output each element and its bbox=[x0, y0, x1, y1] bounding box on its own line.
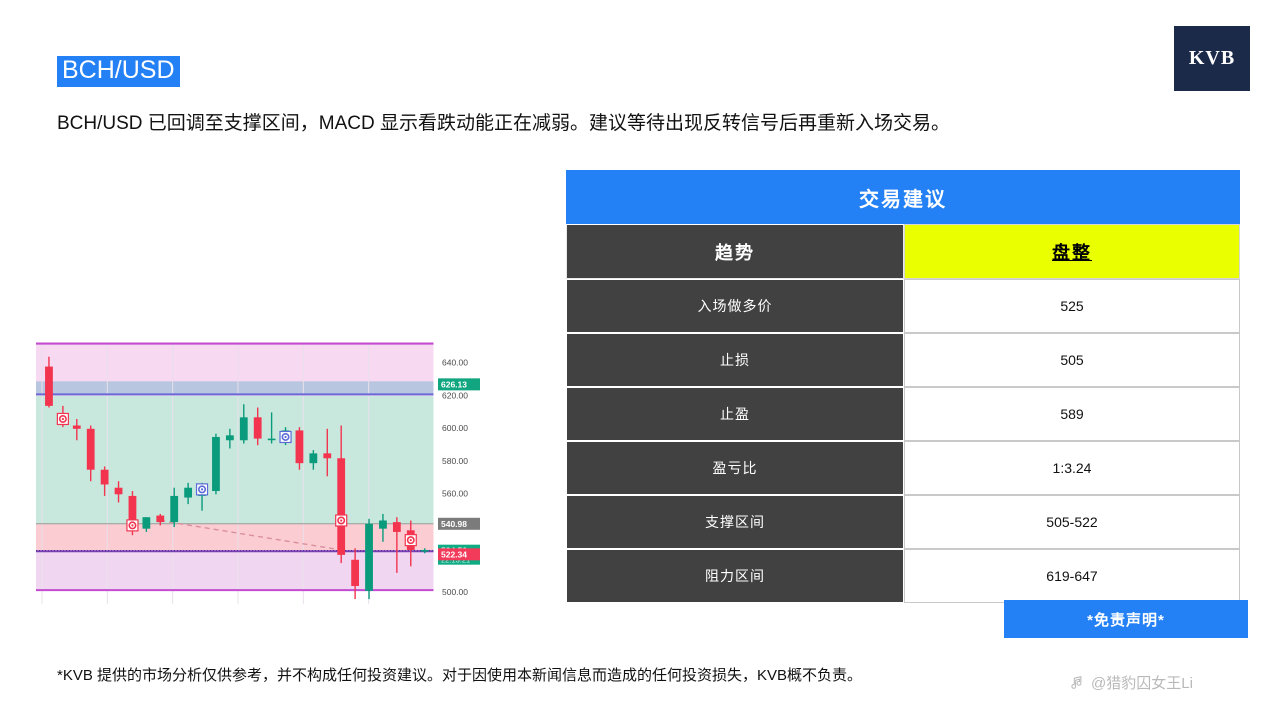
table-row: 止损505 bbox=[566, 333, 1240, 387]
axis-tick-label: 560.00 bbox=[442, 489, 468, 499]
price-chart: 640.00620.00600.00580.00560.00500.00 626… bbox=[36, 342, 480, 604]
candle-body bbox=[393, 522, 401, 532]
table-title-row: 交易建议 bbox=[566, 170, 1240, 224]
row-value: 1:3.24 bbox=[904, 441, 1240, 495]
watermark-text: @猎豹囚女王Li bbox=[1091, 672, 1193, 693]
kvb-logo-text: KVB bbox=[1189, 47, 1235, 70]
candle-body bbox=[323, 453, 331, 458]
disclaimer-button-label: *免责声明* bbox=[1087, 609, 1165, 630]
table-title: 交易建议 bbox=[566, 170, 1240, 224]
candle-body bbox=[421, 550, 429, 552]
market-summary-text: BCH/USD 已回调至支撑区间，MACD 显示看跌动能正在减弱。建议等待出现反… bbox=[57, 110, 1137, 138]
axis-tick-label: 640.00 bbox=[442, 358, 468, 368]
sell-signal-dot bbox=[62, 418, 64, 420]
candle-body bbox=[142, 517, 150, 528]
trading-advice-table: 交易建议 趋势 盘整 入场做多价525止损505止盈589盈亏比1:3.24支撑… bbox=[566, 170, 1240, 603]
row-label: 入场做多价 bbox=[566, 279, 904, 333]
row-label: 阻力区间 bbox=[566, 549, 904, 603]
candle-body bbox=[337, 458, 345, 555]
buy-signal-dot bbox=[284, 436, 286, 438]
candle-body bbox=[296, 430, 304, 463]
candle-body bbox=[365, 524, 373, 591]
sell-signal-dot bbox=[340, 519, 342, 521]
watermark: @猎豹囚女王Li bbox=[1070, 672, 1193, 693]
trend-header-value: 盘整 bbox=[904, 224, 1240, 279]
support-zone bbox=[36, 552, 434, 591]
axis-tick-label: 620.00 bbox=[442, 390, 468, 400]
candle-body bbox=[101, 470, 109, 485]
footer-disclaimer-text: *KVB 提供的市场分析仅供参考，并不构成任何投资建议。对于因使用本新闻信息而造… bbox=[57, 664, 862, 685]
candle-body bbox=[212, 437, 220, 491]
row-label: 止损 bbox=[566, 333, 904, 387]
table-header-row: 趋势 盘整 bbox=[566, 224, 1240, 279]
candle-body bbox=[379, 520, 387, 528]
row-value: 589 bbox=[904, 387, 1240, 441]
candle-body bbox=[170, 496, 178, 522]
row-label: 盈亏比 bbox=[566, 441, 904, 495]
sell-signal-dot bbox=[131, 524, 133, 526]
row-value: 505 bbox=[904, 333, 1240, 387]
kvb-logo: KVB bbox=[1174, 26, 1250, 91]
candle-body bbox=[115, 488, 123, 495]
candle-body bbox=[87, 429, 95, 470]
row-value: 525 bbox=[904, 279, 1240, 333]
table-row: 阻力区间619-647 bbox=[566, 549, 1240, 603]
row-value: 619-647 bbox=[904, 549, 1240, 603]
disclaimer-button[interactable]: *免责声明* bbox=[1004, 600, 1248, 638]
candle-body bbox=[351, 560, 359, 586]
candle-body bbox=[45, 367, 53, 406]
table-row: 止盈589 bbox=[566, 387, 1240, 441]
candle-body bbox=[240, 417, 248, 440]
neutral-zone bbox=[36, 396, 434, 524]
table-row: 盈亏比1:3.24 bbox=[566, 441, 1240, 495]
trend-header-label: 趋势 bbox=[566, 224, 904, 279]
music-note-icon bbox=[1070, 675, 1085, 690]
candle-body bbox=[254, 417, 262, 438]
resistance-badge-text: 626.13 bbox=[441, 379, 467, 389]
axis-tick-label: 500.00 bbox=[442, 587, 468, 597]
level-badge-text: 540.98 bbox=[441, 519, 467, 529]
row-value: 505-522 bbox=[904, 495, 1240, 549]
candlestick-chart-svg: 640.00620.00600.00580.00560.00500.00 626… bbox=[36, 342, 480, 604]
buy-signal-dot bbox=[201, 488, 203, 490]
table-body: 入场做多价525止损505止盈589盈亏比1:3.24支撑区间505-522阻力… bbox=[566, 279, 1240, 603]
table-row: 入场做多价525 bbox=[566, 279, 1240, 333]
candle-body bbox=[309, 453, 317, 463]
candle-body bbox=[268, 439, 276, 441]
chart-price-badges: 626.13540.98524.5622:13:21522.34 bbox=[438, 378, 480, 564]
candle-body bbox=[156, 516, 164, 523]
sell-signal-dot bbox=[410, 539, 412, 541]
row-label: 支撑区间 bbox=[566, 495, 904, 549]
bid-badge-text: 522.34 bbox=[441, 549, 467, 559]
axis-tick-label: 580.00 bbox=[442, 456, 468, 466]
row-label: 止盈 bbox=[566, 387, 904, 441]
candle-body bbox=[73, 426, 81, 429]
candle-body bbox=[184, 488, 192, 498]
table-row: 支撑区间505-522 bbox=[566, 495, 1240, 549]
upper-band bbox=[36, 381, 434, 394]
axis-tick-label: 600.00 bbox=[442, 423, 468, 433]
chart-zone-bands bbox=[36, 342, 434, 591]
page-title: BCH/USD bbox=[57, 56, 180, 87]
caution-zone bbox=[36, 524, 434, 552]
candle-body bbox=[226, 435, 234, 440]
